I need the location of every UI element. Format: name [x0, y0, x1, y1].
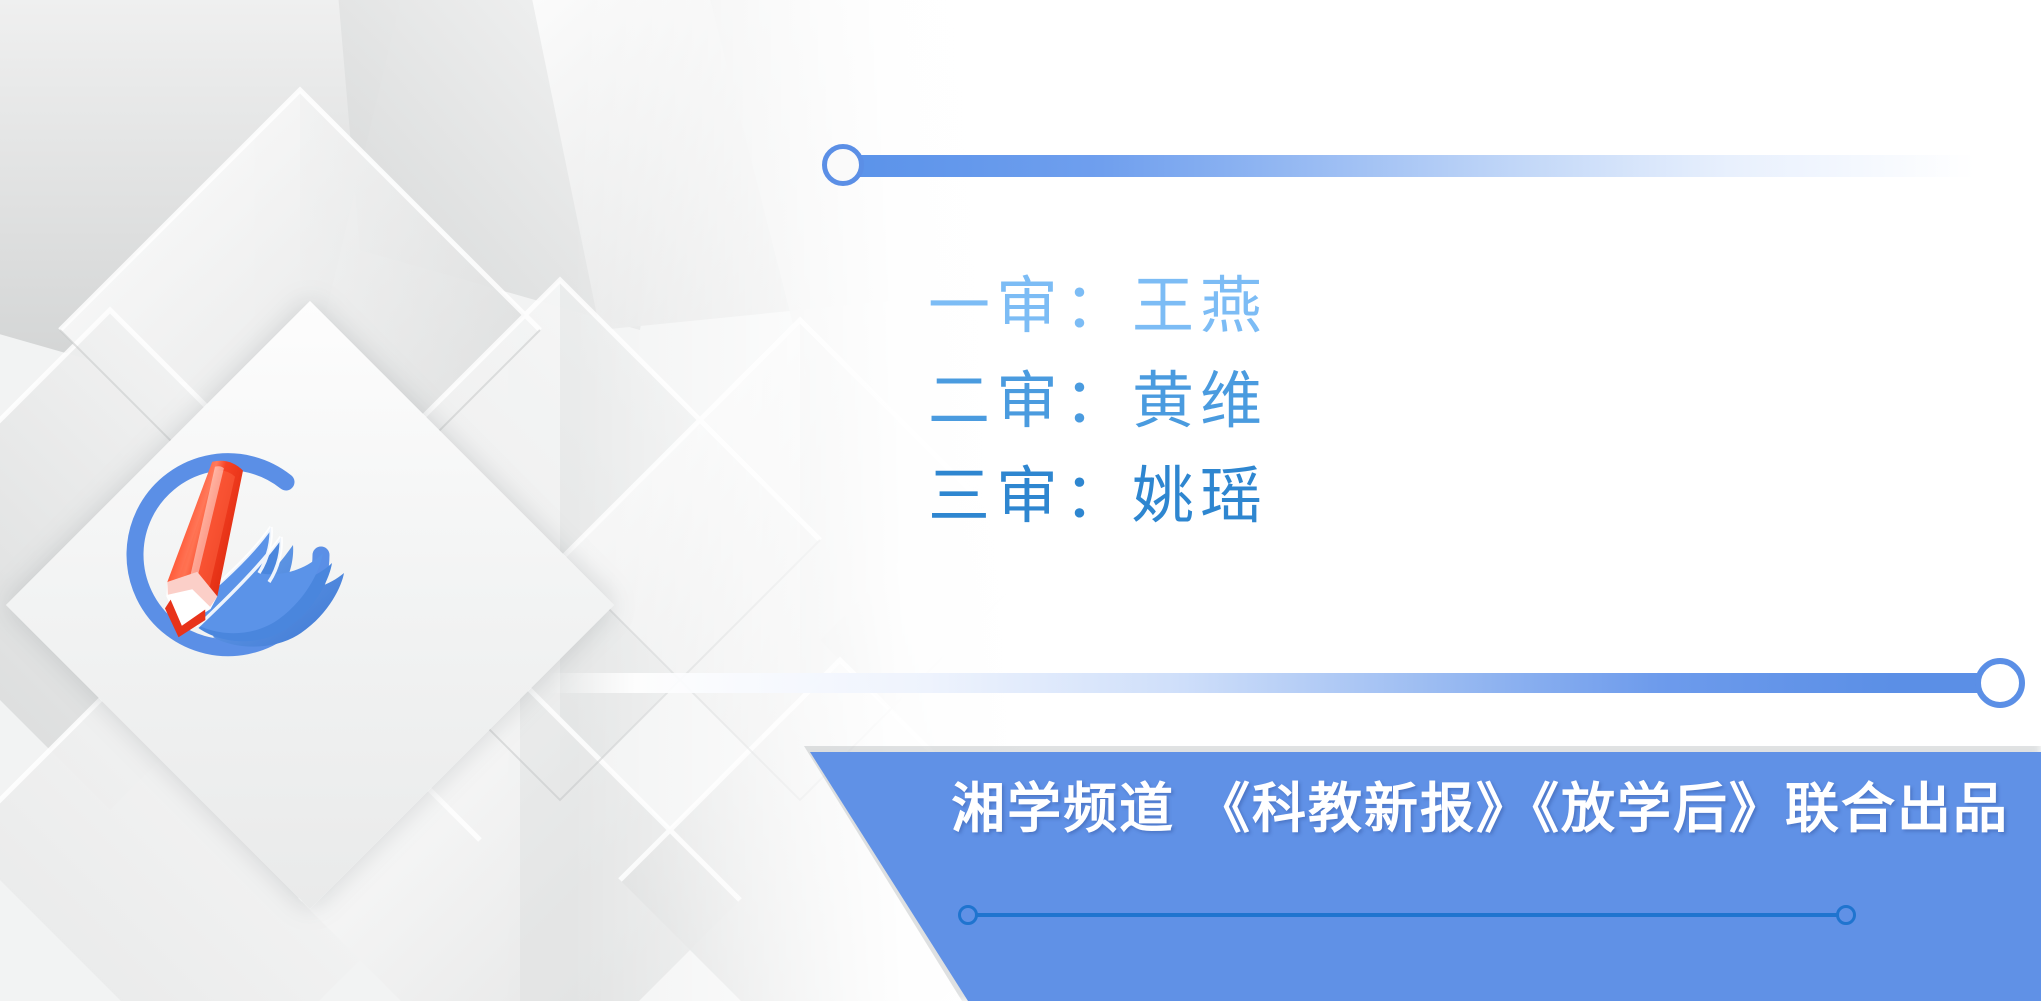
- middle-connector-line: [548, 673, 2010, 693]
- review-credits: 一审：王燕 二审：黄维 三审：姚瑶: [928, 258, 1268, 543]
- banner-rule-dot-left-icon: [958, 905, 978, 925]
- top-connector-line: [855, 155, 1975, 177]
- right-connector-node-icon: [1975, 658, 2025, 708]
- banner-rule: [968, 913, 1846, 917]
- credit-banner-text: 湘学频道 《科教新报》《放学后》联合出品: [0, 773, 2041, 843]
- review-line-third: 三审：姚瑶: [928, 448, 1268, 543]
- review-line-second: 二审：黄维: [928, 353, 1268, 448]
- logo-svg: [85, 405, 375, 695]
- endcard-slide: 一审：王燕 二审：黄维 三审：姚瑶 湘学频道 《科教新报》《放学后》联合出品: [0, 0, 2041, 1001]
- banner-rule-dot-right-icon: [1836, 905, 1856, 925]
- keji-xinbao-logo: [85, 405, 375, 695]
- review-line-first: 一审：王燕: [928, 258, 1268, 353]
- top-connector-node-icon: [822, 144, 864, 186]
